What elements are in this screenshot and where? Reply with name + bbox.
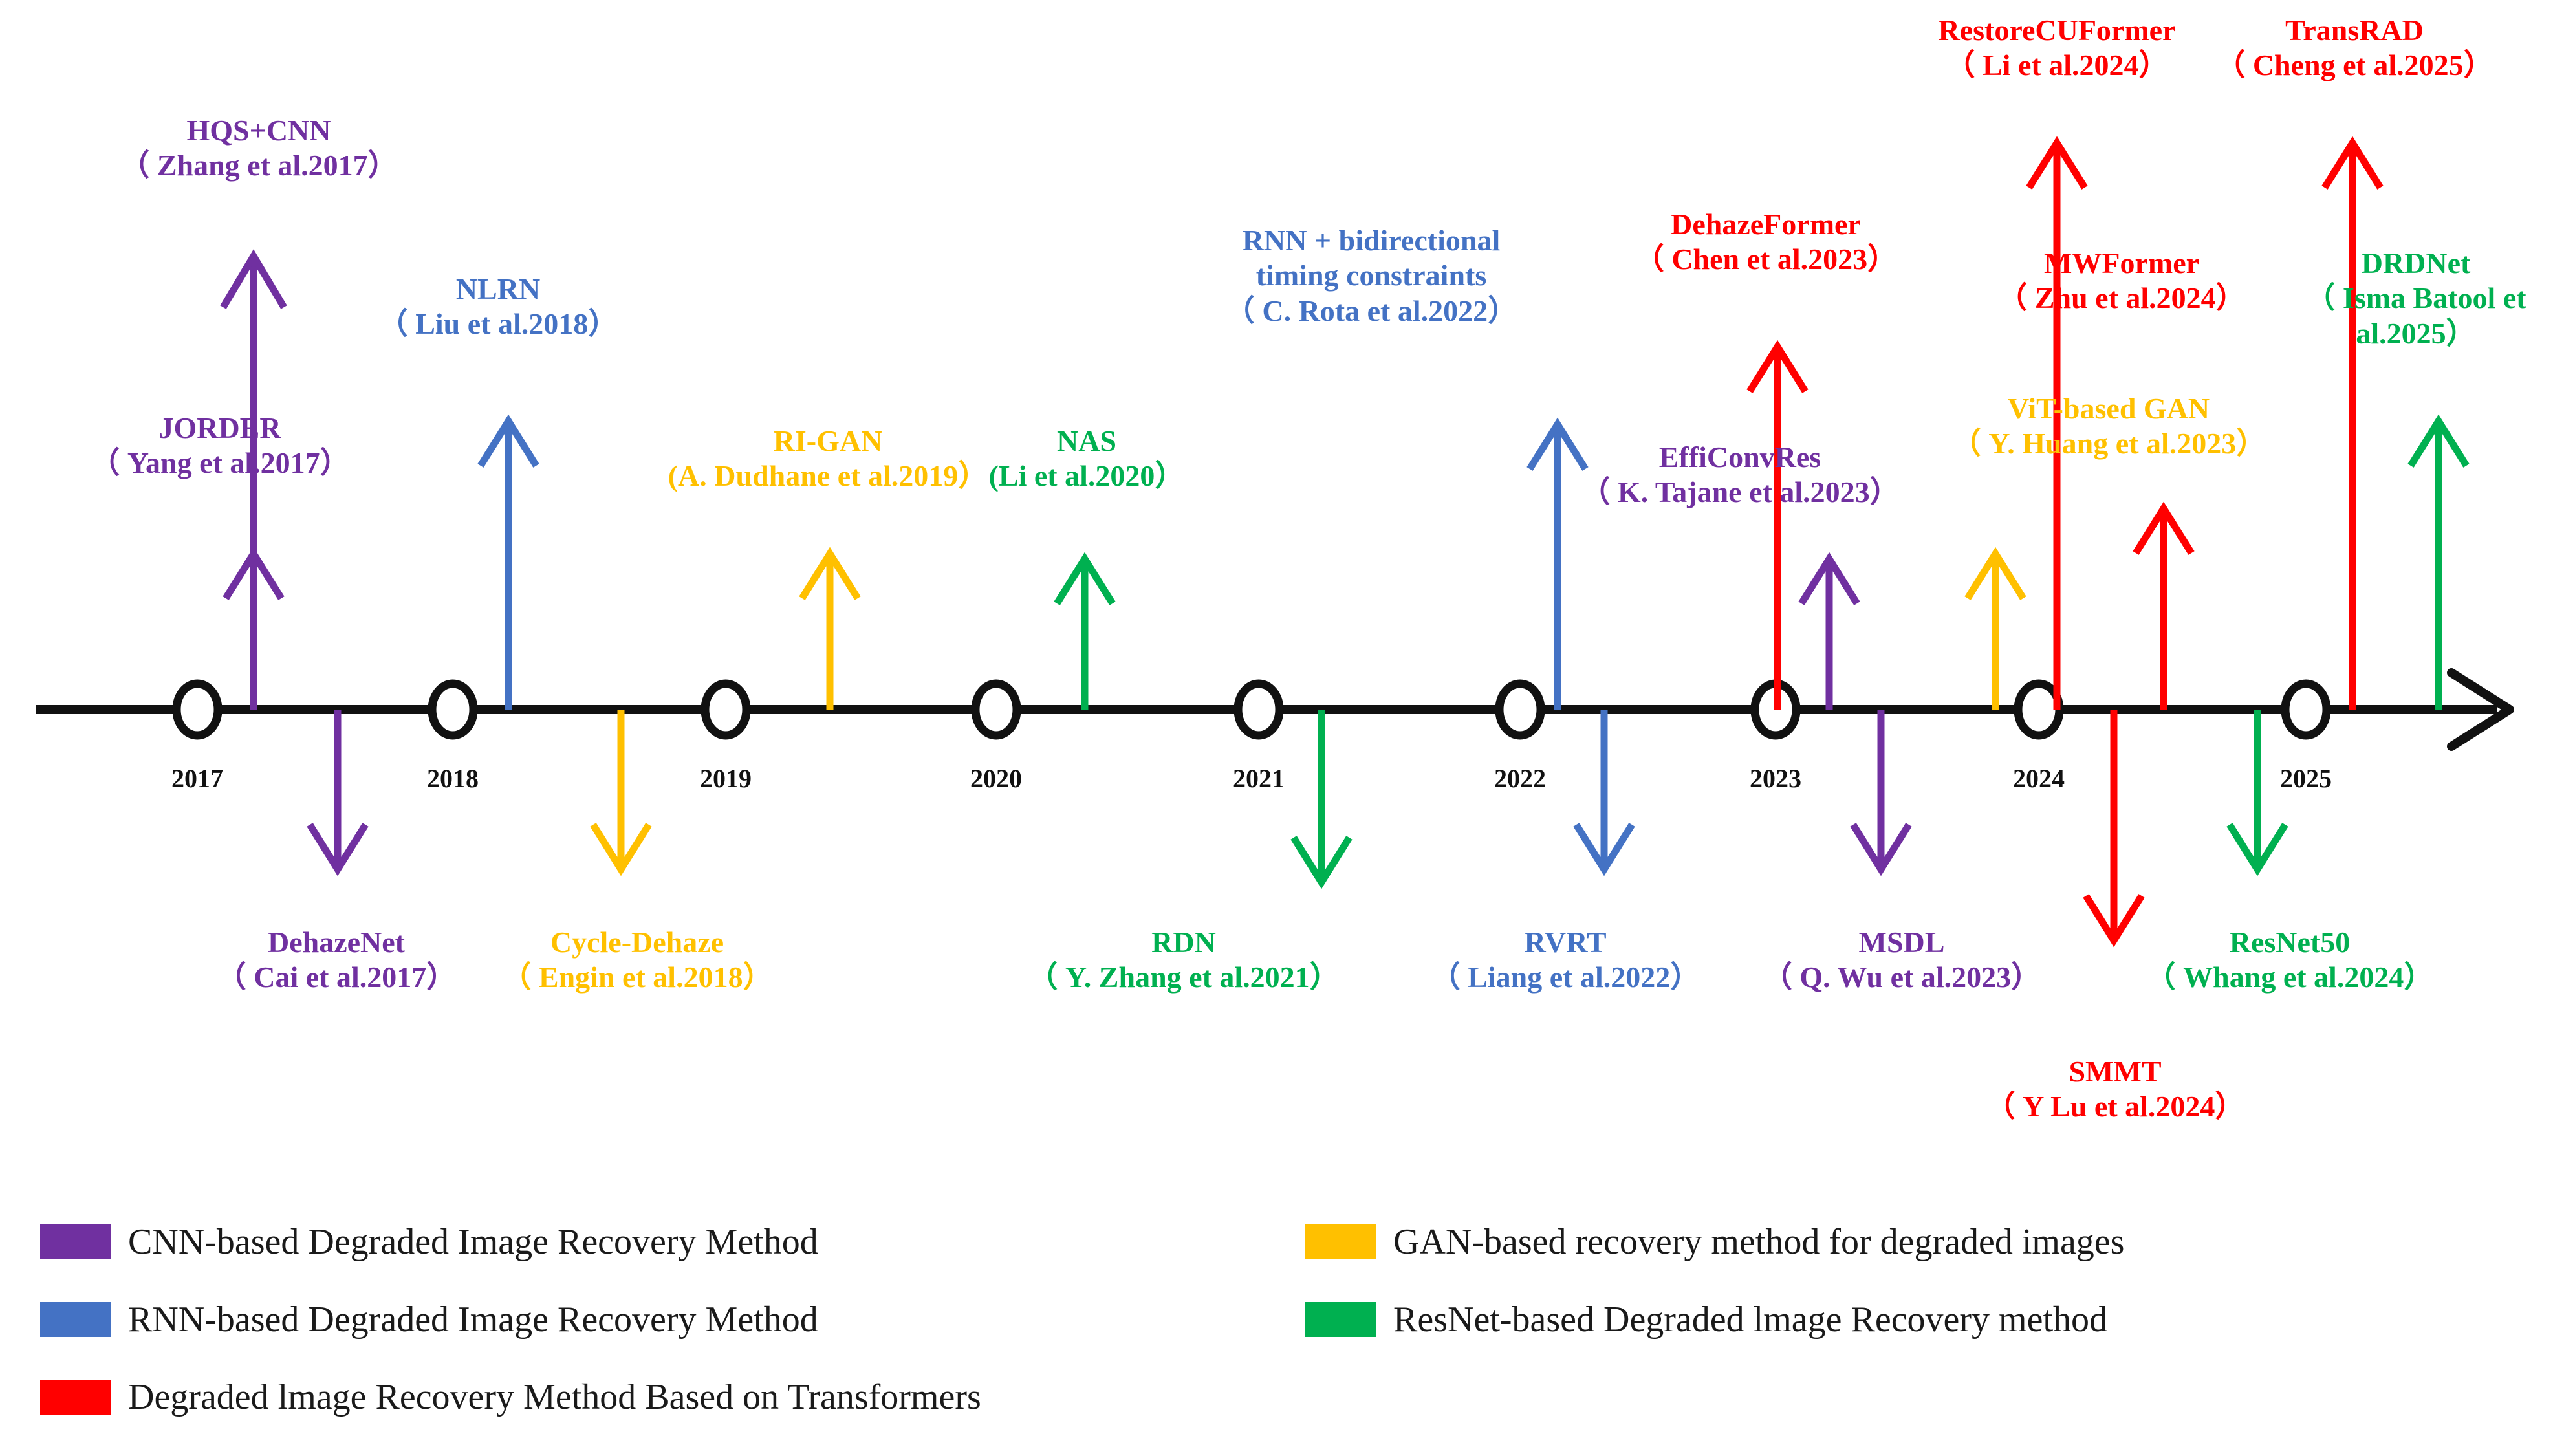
entry-title: DehazeFormer	[1578, 207, 1953, 242]
entry-vit-based-gan: ViT-based GAN （ Y. Huang et al.2023）	[1928, 391, 2290, 462]
legend: CNN-based Degraded Image Recovery Method…	[0, 1203, 2564, 1456]
entry-citation: （ Yang et al.2017）	[39, 446, 401, 481]
year-label-2019: 2019	[668, 763, 784, 794]
entry-citation: （ Zhu et al.2024）	[1940, 281, 2303, 316]
arrow-smmt-upper	[2136, 508, 2191, 710]
legend-label-rnn: RNN-based Degraded Image Recovery Method	[128, 1299, 818, 1340]
entry-citation: （ Cheng et al.2025）	[2154, 48, 2555, 83]
entry-title: EffiConvRes	[1546, 440, 1934, 475]
entry-title: RDN	[983, 925, 1384, 960]
entry-citation-line1: （ Isma Batool et	[2277, 281, 2555, 316]
legend-swatch-rnn	[40, 1302, 111, 1337]
entry-mwformer: MWFormer （ Zhu et al.2024）	[1940, 246, 2303, 316]
year-node-2018	[432, 684, 473, 735]
entry-title: ViT-based GAN	[1928, 391, 2290, 426]
entry-citation-line2: al.2025）	[2277, 316, 2555, 351]
arrow-msdl	[1853, 710, 1909, 869]
legend-item-cnn[interactable]: CNN-based Degraded Image Recovery Method	[40, 1221, 818, 1263]
year-label-2022: 2022	[1462, 763, 1578, 794]
legend-item-transformer[interactable]: Degraded lmage Recovery Method Based on …	[40, 1376, 981, 1418]
arrow-hqs-cnn	[223, 256, 284, 710]
entry-title-line1: RNN + bidirectional	[1184, 223, 1559, 258]
entry-efficonvres: EffiConvRes （ K. Tajane et al.2023）	[1546, 440, 1934, 510]
arrow-dehazenet	[310, 710, 365, 869]
entry-citation: （ Liang et al.2022）	[1384, 960, 1746, 995]
entry-transrad: TransRAD （ Cheng et al.2025）	[2154, 13, 2555, 83]
entry-title: JORDER	[39, 411, 401, 446]
arrow-nlrn	[481, 421, 536, 710]
entry-hqs-cnn: HQS+CNN （ Zhang et al.2017）	[65, 113, 453, 184]
arrow-ri-gan	[802, 554, 858, 710]
entry-citation: （ Y. Huang et al.2023）	[1928, 426, 2290, 461]
entry-title-line2: timing constraints	[1184, 258, 1559, 293]
entry-citation: （ Liu et al.2018）	[323, 307, 673, 342]
year-node-2022	[1499, 684, 1541, 735]
entry-citation: （ Engin et al.2018）	[446, 960, 828, 995]
arrow-rvrt	[1576, 710, 1632, 869]
arrow-rdn	[1294, 710, 1349, 882]
legend-label-transformer: Degraded lmage Recovery Method Based on …	[128, 1376, 981, 1418]
legend-label-cnn: CNN-based Degraded Image Recovery Method	[128, 1221, 818, 1263]
entry-cycle-dehaze: Cycle-Dehaze （ Engin et al.2018）	[446, 925, 828, 995]
entry-title: Cycle-Dehaze	[446, 925, 828, 960]
year-node-2021	[1238, 684, 1279, 735]
entry-rnn-bidirectional: RNN + bidirectional timing constraints （…	[1184, 223, 1559, 329]
arrow-dehazeformer	[1750, 347, 1805, 710]
year-label-2018: 2018	[395, 763, 511, 794]
year-node-2020	[975, 684, 1017, 735]
entry-title: ResNet50	[2089, 925, 2490, 960]
entry-title: NAS	[925, 424, 1248, 459]
entry-citation: （ Y. Zhang et al.2021）	[983, 960, 1384, 995]
entry-citation: （ Chen et al.2023）	[1578, 242, 1953, 277]
legend-swatch-gan	[1305, 1224, 1376, 1259]
year-label-2024: 2024	[1981, 763, 2097, 794]
legend-item-rnn[interactable]: RNN-based Degraded Image Recovery Method	[40, 1299, 818, 1340]
year-node-2023	[1755, 684, 1796, 735]
year-node-2025	[2285, 684, 2327, 735]
legend-item-resnet[interactable]: ResNet-based Degraded lmage Recovery met…	[1305, 1299, 2107, 1340]
year-label-2025: 2025	[2248, 763, 2364, 794]
entry-citation: （ Q. Wu et al.2023）	[1714, 960, 2089, 995]
entry-rdn: RDN （ Y. Zhang et al.2021）	[983, 925, 1384, 995]
arrow-transrad	[2325, 143, 2380, 710]
legend-swatch-resnet	[1305, 1302, 1376, 1337]
axis-arrow-head	[2451, 673, 2510, 746]
entry-citation: （ Y Lu et al.2024）	[1934, 1089, 2296, 1124]
entry-nas: NAS (Li et al.2020）	[925, 424, 1248, 494]
entry-citation: （ Zhang et al.2017）	[65, 148, 453, 183]
year-node-2024	[2018, 684, 2059, 735]
entry-citation: (Li et al.2020）	[925, 459, 1248, 494]
entry-title: HQS+CNN	[65, 113, 453, 148]
entry-msdl: MSDL （ Q. Wu et al.2023）	[1714, 925, 2089, 995]
entry-resnet50: ResNet50 （ Whang et al.2024）	[2089, 925, 2490, 995]
year-label-2023: 2023	[1717, 763, 1834, 794]
entry-nlrn: NLRN （ Liu et al.2018）	[323, 272, 673, 342]
arrow-nas	[1057, 559, 1113, 710]
entry-title: RVRT	[1384, 925, 1746, 960]
entry-citation: （ K. Tajane et al.2023）	[1546, 475, 1934, 510]
arrow-jorder	[226, 554, 281, 710]
year-node-2017	[177, 684, 218, 735]
entry-smmt: SMMT （ Y Lu et al.2024）	[1934, 1054, 2296, 1125]
legend-swatch-transformer	[40, 1380, 111, 1415]
year-label-2021: 2021	[1201, 763, 1317, 794]
entry-title: MWFormer	[1940, 246, 2303, 281]
entry-citation: （ Whang et al.2024）	[2089, 960, 2490, 995]
entry-title: DRDNet	[2277, 246, 2555, 281]
entry-dehazeformer: DehazeFormer （ Chen et al.2023）	[1578, 207, 1953, 277]
year-label-2020: 2020	[938, 763, 1054, 794]
entry-title: NLRN	[323, 272, 673, 307]
entry-citation: （ C. Rota et al.2022）	[1184, 294, 1559, 329]
entry-title: MSDL	[1714, 925, 2089, 960]
year-node-2019	[705, 684, 746, 735]
timeline-diagram: 2017 2018 2019 2020 2021 2022 2023 2024 …	[0, 0, 2564, 1456]
arrow-cycle-dehaze	[593, 710, 649, 869]
arrow-efficonvres	[1801, 559, 1857, 710]
entry-title: SMMT	[1934, 1054, 2296, 1089]
legend-label-resnet: ResNet-based Degraded lmage Recovery met…	[1393, 1299, 2107, 1340]
year-node-markers	[177, 684, 2327, 735]
entry-jorder: JORDER （ Yang et al.2017）	[39, 411, 401, 481]
entry-drdnet: DRDNet （ Isma Batool et al.2025）	[2277, 246, 2555, 351]
year-label-2017: 2017	[139, 763, 255, 794]
arrow-drdnet	[2411, 421, 2466, 710]
arrow-vit-based-gan	[1968, 554, 2023, 710]
entry-rvrt: RVRT （ Liang et al.2022）	[1384, 925, 1746, 995]
legend-item-gan[interactable]: GAN-based recovery method for degraded i…	[1305, 1221, 2124, 1263]
legend-label-gan: GAN-based recovery method for degraded i…	[1393, 1221, 2124, 1263]
entry-title: TransRAD	[2154, 13, 2555, 48]
legend-swatch-cnn	[40, 1224, 111, 1259]
arrow-smmt	[2086, 710, 2142, 940]
